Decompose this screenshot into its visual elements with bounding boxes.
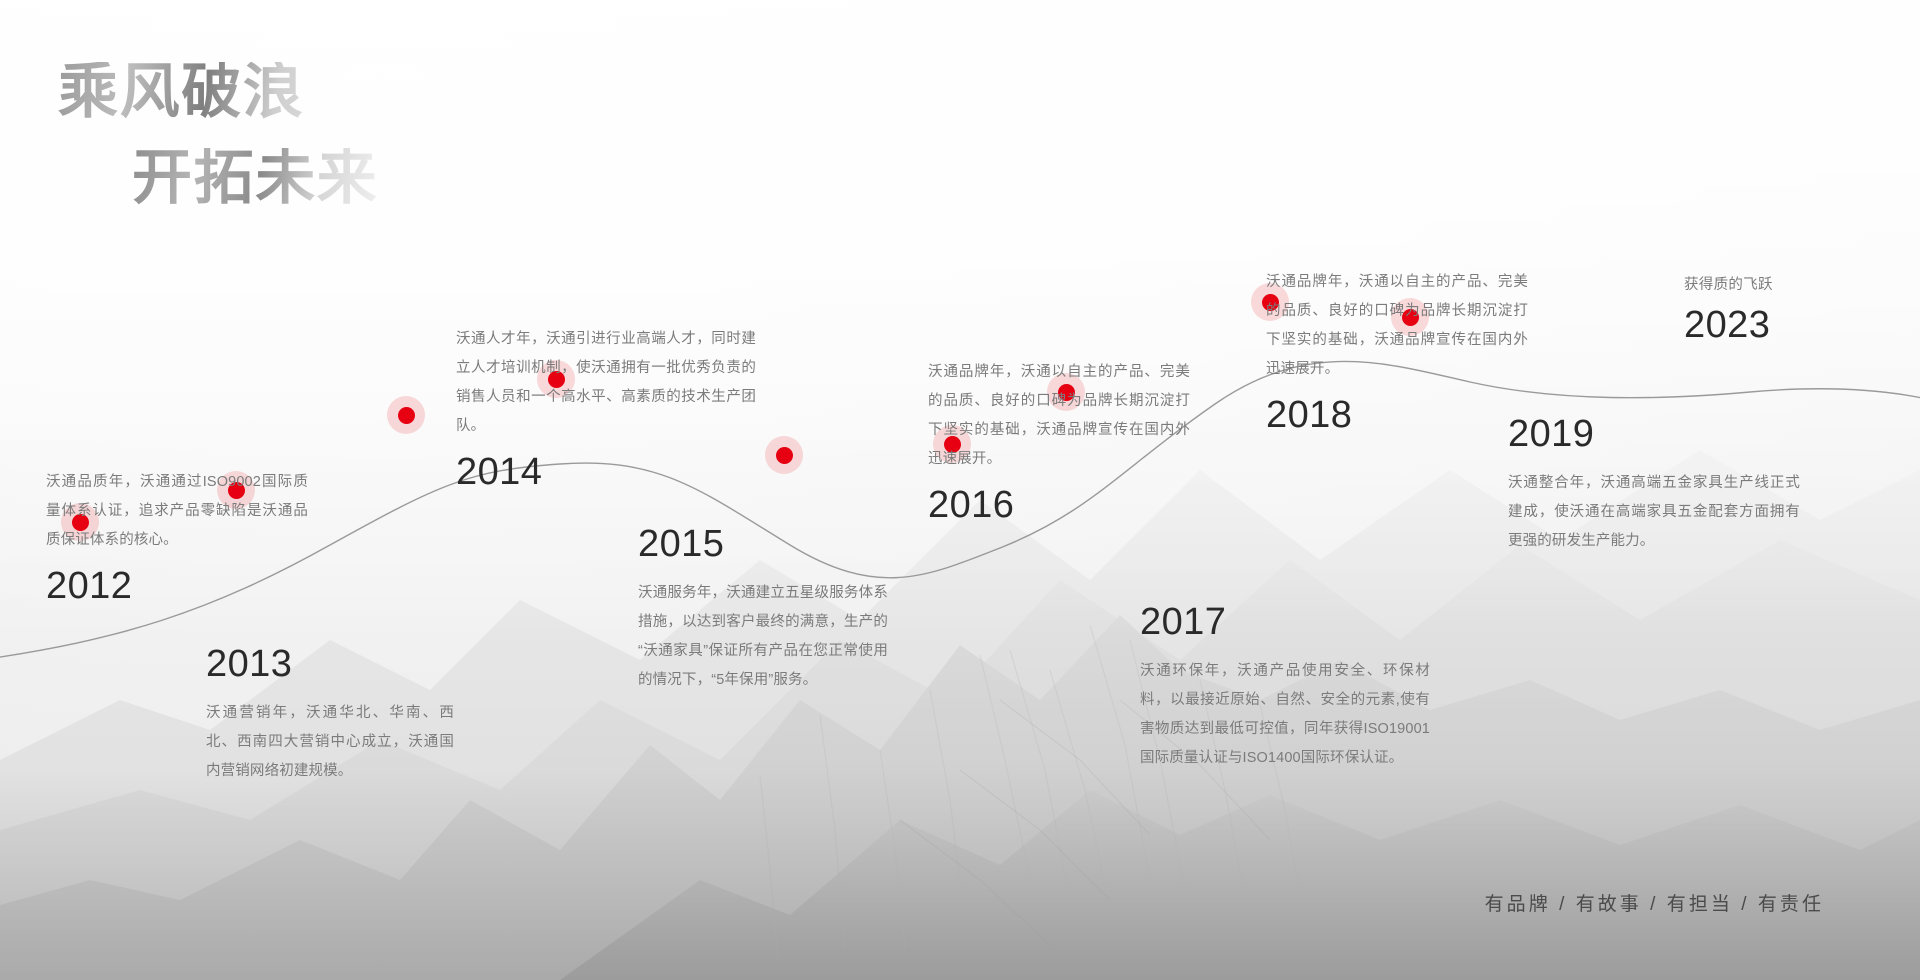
milestone-dot-2014[interactable] <box>387 396 425 434</box>
milestone-2023[interactable]: 获得质的飞跃 2023 <box>1684 272 1914 345</box>
milestone-2013-description: 沃通营销年，沃通华北、华南、西北、西南四大营销中心成立，沃通国内营销网络初建规模… <box>206 699 454 786</box>
milestone-2017[interactable]: 2017 沃通环保年，沃通产品使用安全、环保材料，以最接近原始、自然、安全的元素… <box>1140 603 1430 773</box>
milestone-2015-description: 沃通服务年，沃通建立五星级服务体系措施，以达到客户最终的满意，生产的“沃通家具”… <box>638 579 888 695</box>
milestone-2017-year: 2017 <box>1140 603 1430 643</box>
milestone-2018-year: 2018 <box>1266 396 1528 436</box>
milestone-2014-description: 沃通人才年，沃通引进行业高端人才，同时建立人才培训机制，使沃通拥有一批优秀负责的… <box>456 325 756 441</box>
milestone-2019-year: 2019 <box>1508 415 1800 455</box>
milestone-2018[interactable]: 沃通品牌年，沃通以自主的产品、完美的品质、良好的口碑为品牌长期沉淀打下坚实的基础… <box>1266 268 1528 436</box>
milestone-2013[interactable]: 2013 沃通营销年，沃通华北、华南、西北、西南四大营销中心成立，沃通国内营销网… <box>206 645 454 786</box>
milestone-2018-description: 沃通品牌年，沃通以自主的产品、完美的品质、良好的口碑为品牌长期沉淀打下坚实的基础… <box>1266 268 1528 384</box>
milestone-2012-year: 2012 <box>46 567 308 607</box>
milestone-2014[interactable]: 沃通人才年，沃通引进行业高端人才，同时建立人才培训机制，使沃通拥有一批优秀负责的… <box>456 325 756 493</box>
headline-line-2: 开拓未来 <box>132 148 378 208</box>
milestone-2017-description: 沃通环保年，沃通产品使用安全、环保材料，以最接近原始、自然、安全的元素,使有害物… <box>1140 657 1430 773</box>
milestone-2016-year: 2016 <box>928 486 1190 526</box>
milestone-2023-description: 获得质的飞跃 <box>1684 272 1914 300</box>
milestone-2023-year: 2023 <box>1684 306 1914 346</box>
milestone-2019-description: 沃通整合年，沃通高端五金家具生产线正式建成，使沃通在高端家具五金配套方面拥有更强… <box>1508 469 1800 556</box>
headline-line-1: 乘风破浪 <box>58 62 378 122</box>
milestone-2013-year: 2013 <box>206 645 454 685</box>
milestone-2016-description: 沃通品牌年，沃通以自主的产品、完美的品质、良好的口碑为品牌长期沉淀打下坚实的基础… <box>928 358 1190 474</box>
milestone-dot-2016[interactable] <box>765 436 803 474</box>
timeline-slide: 乘风破浪 开拓未来 沃通品质年，沃通通过ISO9002国际质量体系认证，追求产品… <box>0 0 1920 980</box>
milestone-2015-year: 2015 <box>638 525 888 565</box>
footer-tagline: 有品牌 / 有故事 / 有担当 / 有责任 <box>1485 889 1824 916</box>
milestone-2012[interactable]: 沃通品质年，沃通通过ISO9002国际质量体系认证，追求产品零缺陷是沃通品质保证… <box>46 468 308 607</box>
page-title: 乘风破浪 开拓未来 <box>58 62 378 208</box>
milestone-2019[interactable]: 2019 沃通整合年，沃通高端五金家具生产线正式建成，使沃通在高端家具五金配套方… <box>1508 415 1800 556</box>
milestone-2014-year: 2014 <box>456 453 756 493</box>
milestone-2015[interactable]: 2015 沃通服务年，沃通建立五星级服务体系措施，以达到客户最终的满意，生产的“… <box>638 525 888 695</box>
milestone-2016[interactable]: 沃通品牌年，沃通以自主的产品、完美的品质、良好的口碑为品牌长期沉淀打下坚实的基础… <box>928 358 1190 526</box>
milestone-2012-description: 沃通品质年，沃通通过ISO9002国际质量体系认证，追求产品零缺陷是沃通品质保证… <box>46 468 308 555</box>
